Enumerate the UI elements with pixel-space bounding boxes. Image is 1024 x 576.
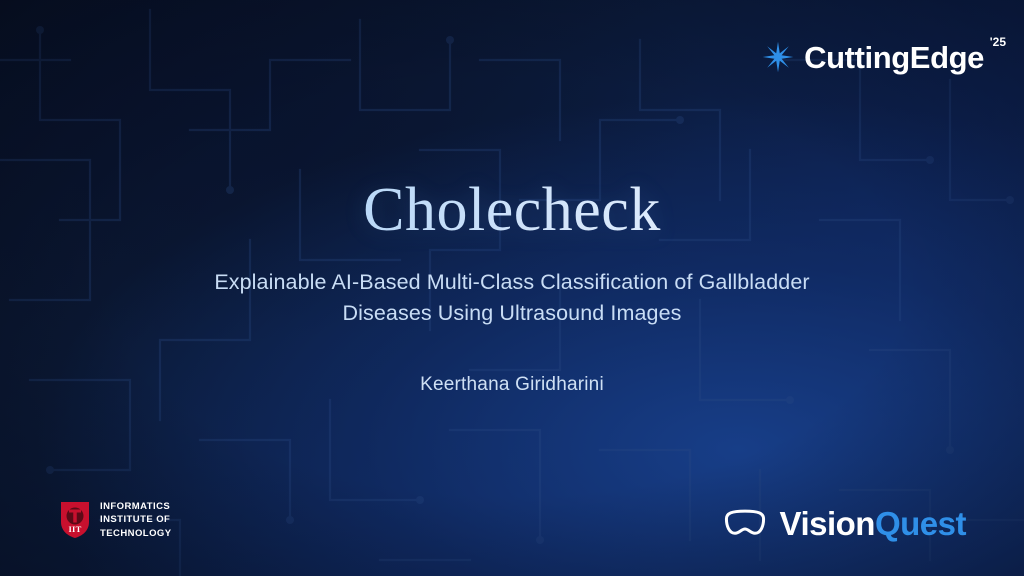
iit-name-line-3: TECHNOLOGY bbox=[100, 527, 172, 540]
iit-name-line-2: INSTITUTE OF bbox=[100, 513, 172, 526]
iit-logo: IIT INFORMATICS INSTITUTE OF TECHNOLOGY bbox=[60, 500, 172, 540]
cuttingedge-wordmark: CuttingEdge '25 bbox=[804, 42, 984, 73]
cuttingedge-logo: CuttingEdge '25 bbox=[761, 40, 984, 74]
iit-shield-icon: IIT bbox=[60, 501, 90, 539]
visionquest-word-vision: Vision bbox=[780, 505, 875, 542]
page-title: Cholecheck bbox=[0, 178, 1024, 243]
visionquest-logo: VisionQuest bbox=[722, 507, 966, 540]
title-slide: CuttingEdge '25 Cholecheck Explainable A… bbox=[0, 0, 1024, 576]
svg-text:IIT: IIT bbox=[68, 524, 81, 534]
slide-content: Cholecheck Explainable AI-Based Multi-Cl… bbox=[0, 178, 1024, 396]
visionquest-word-quest: Quest bbox=[875, 505, 966, 542]
slide-subtitle-line-2: Diseases Using Ultrasound Images bbox=[152, 298, 872, 329]
cuttingedge-wordmark-text: CuttingEdge bbox=[804, 40, 984, 75]
vr-goggles-icon bbox=[722, 509, 768, 539]
slide-subtitle-line-1: Explainable AI-Based Multi-Class Classif… bbox=[152, 267, 872, 298]
author-name: Keerthana Giridharini bbox=[0, 374, 1024, 396]
cuttingedge-year-badge: '25 bbox=[990, 36, 1006, 48]
iit-institute-name: INFORMATICS INSTITUTE OF TECHNOLOGY bbox=[100, 500, 172, 540]
slide-subtitle: Explainable AI-Based Multi-Class Classif… bbox=[152, 267, 872, 328]
iit-name-line-1: INFORMATICS bbox=[100, 500, 172, 513]
starburst-icon bbox=[761, 40, 795, 74]
visionquest-wordmark: VisionQuest bbox=[780, 507, 966, 540]
